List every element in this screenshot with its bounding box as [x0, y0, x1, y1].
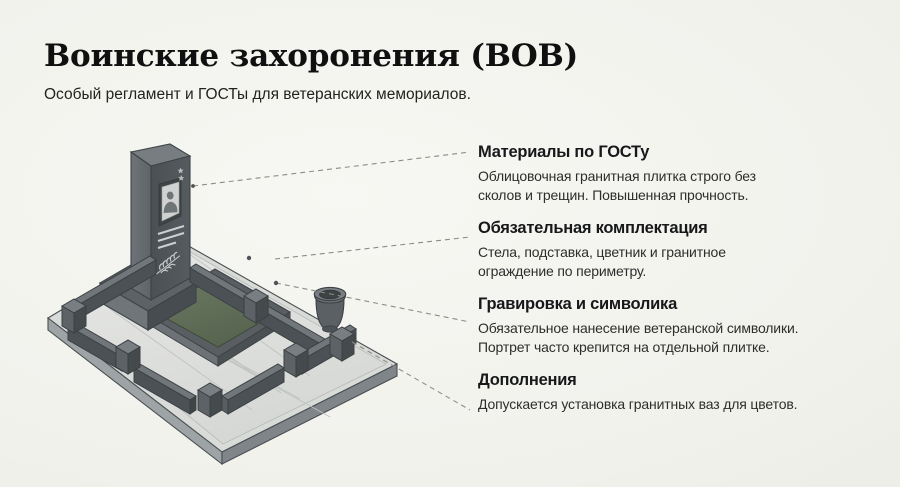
leader-line-engraving	[276, 283, 470, 322]
feature-item-components: Обязательная комплектация Стела, подстав…	[478, 218, 884, 281]
leader-line-extras	[352, 342, 470, 410]
foundation-slab	[48, 240, 397, 464]
feature-desc-extras: Допускается установка гранитных ваз для …	[478, 395, 884, 414]
feature-title-engraving: Гравировка и символика	[478, 294, 884, 315]
stars-emblem	[178, 168, 185, 181]
portrait-plaque	[159, 178, 181, 226]
feature-item-extras: Дополнения Допускается установка гранитн…	[478, 370, 884, 414]
leader-line-materials	[193, 152, 470, 186]
feature-desc-materials: Облицовочная гранитная плитка строго без…	[478, 167, 884, 205]
tile-joints-a	[92, 246, 338, 410]
feature-title-materials: Материалы по ГОСТу	[478, 142, 884, 163]
feature-desc-line: Обязательное нанесение ветеранской симво…	[478, 319, 884, 338]
fence-post	[62, 299, 86, 333]
leader-line-components	[275, 237, 470, 259]
feature-item-materials: Материалы по ГОСТу Облицовочная гранитна…	[478, 142, 884, 205]
feature-title-components: Обязательная комплектация	[478, 218, 884, 239]
granite-fence	[68, 256, 356, 414]
tile-joints-b	[104, 290, 330, 417]
fence-post	[244, 289, 268, 323]
engraved-lines	[158, 226, 184, 248]
feature-desc-line: Облицовочная гранитная плитка строго без	[478, 167, 884, 186]
feature-desc-line: Портрет часто крепится на отдельной плит…	[478, 338, 884, 357]
header: Воинские захоронения (ВОВ) Особый реглам…	[44, 38, 644, 105]
feature-list: Материалы по ГОСТу Облицовочная гранитна…	[478, 142, 884, 414]
fence-post	[284, 343, 308, 377]
feature-desc-components: Стела, подставка, цветник и гранитное ог…	[478, 243, 884, 281]
fence-post	[330, 327, 354, 361]
laurel-branch	[157, 252, 180, 274]
flower-bed	[143, 269, 290, 366]
feature-desc-line: Стела, подставка, цветник и гранитное	[478, 243, 884, 262]
fence-posts	[62, 289, 354, 417]
feature-desc-line: сколов и трещин. Повышенная прочность.	[478, 186, 884, 205]
stele	[131, 144, 190, 300]
fence-post	[198, 383, 222, 417]
page-subtitle: Особый регламент и ГОСТы для ветеранских…	[44, 85, 644, 105]
page-title: Воинские захоронения (ВОВ)	[44, 38, 644, 74]
feature-desc-line: ограждение по периметру.	[478, 262, 884, 281]
leader-lines	[193, 152, 470, 410]
granite-vase	[314, 287, 346, 332]
leader-anchor-dots	[191, 184, 278, 285]
feature-title-extras: Дополнения	[478, 370, 884, 391]
infographic-page: Воинские захоронения (ВОВ) Особый реглам…	[0, 0, 900, 487]
fence-post	[116, 340, 140, 374]
feature-desc-engraving: Обязательное нанесение ветеранской симво…	[478, 319, 884, 357]
feature-desc-line: Допускается установка гранитных ваз для …	[478, 395, 884, 414]
feature-item-engraving: Гравировка и символика Обязательное нане…	[478, 294, 884, 357]
stele-base	[100, 255, 196, 330]
tiled-platform	[63, 245, 386, 444]
